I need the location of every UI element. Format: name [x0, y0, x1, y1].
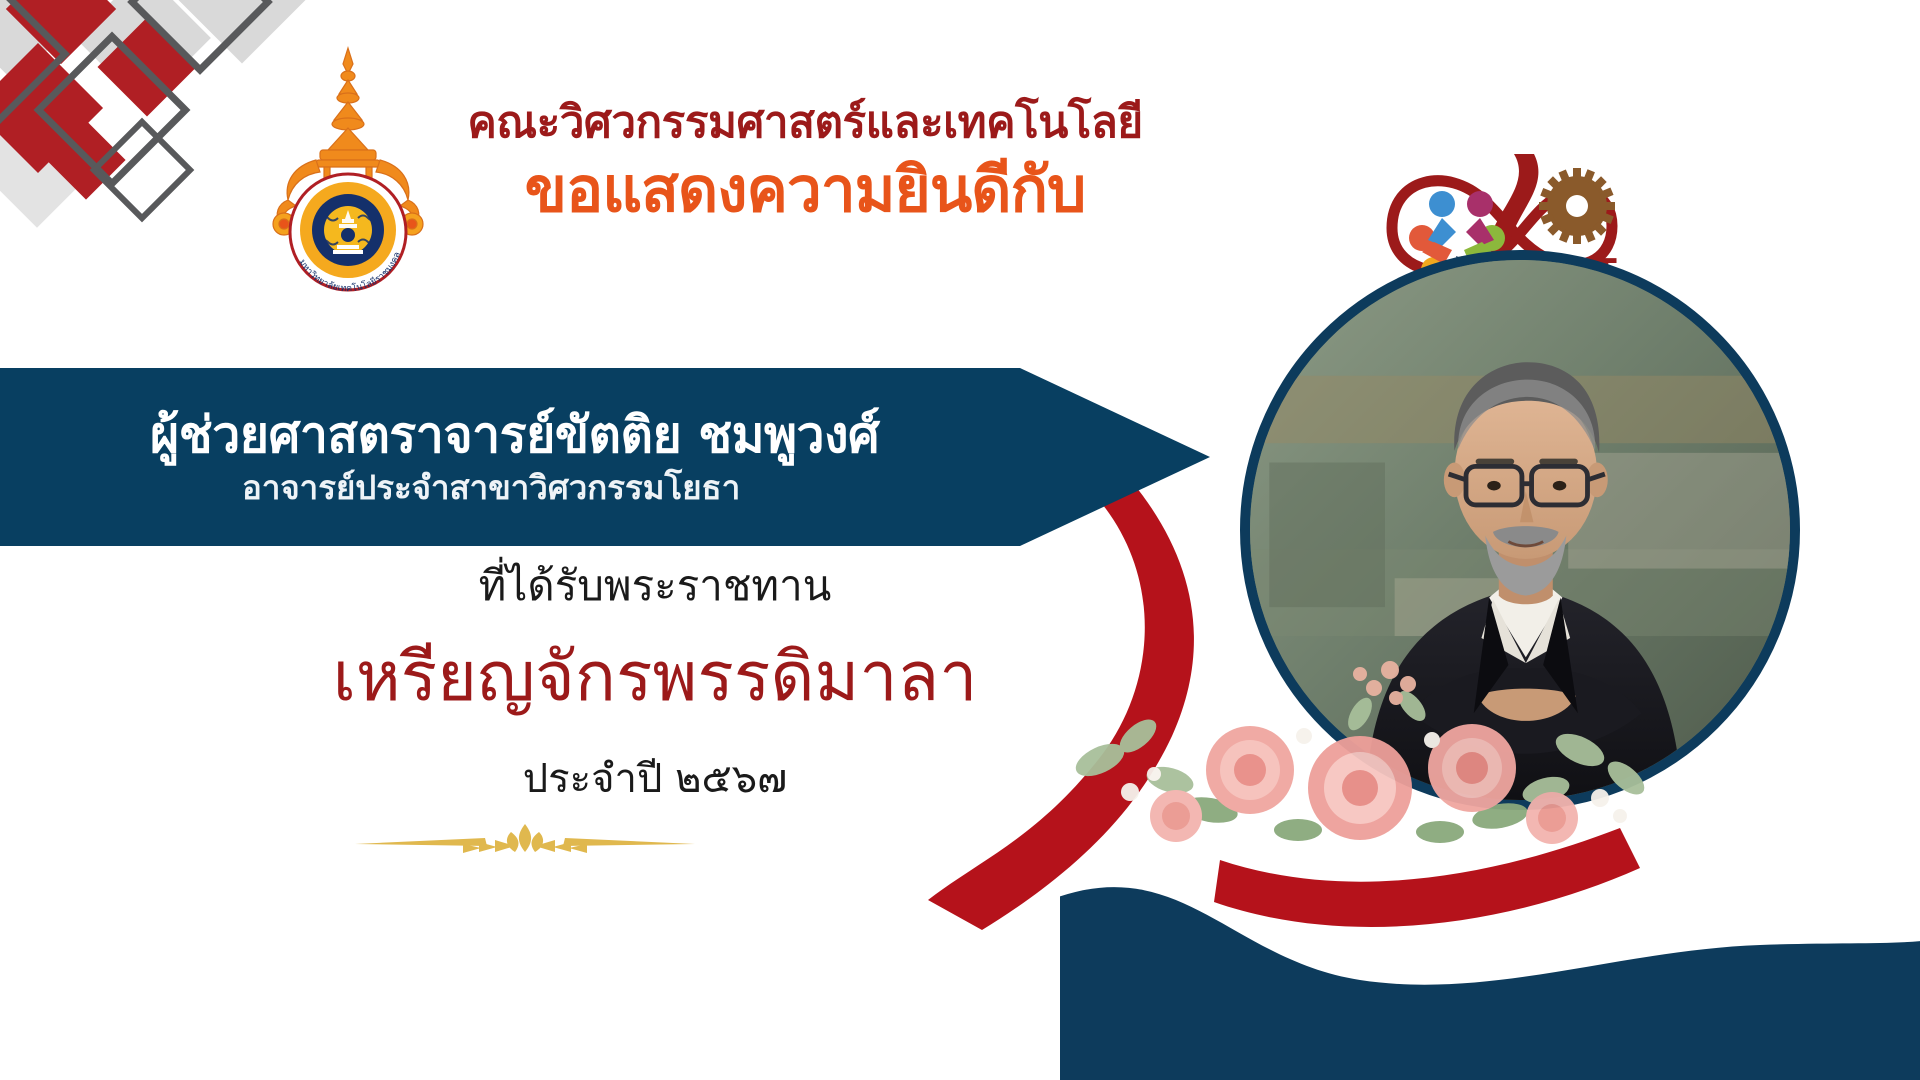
- honoree-name: ผู้ช่วยศาสตราจารย์ขัตติย ชมพูวงศ์: [150, 408, 879, 463]
- award-name-text: เหรียญจักรพรรดิมาลา: [110, 635, 1200, 720]
- honoree-role: อาจารย์ประจำสาขาวิศวกรรมโยธา: [150, 469, 740, 507]
- faculty-title: คณะวิศวกรรมศาสตร์และเทคโนโลยี: [455, 98, 1155, 149]
- banner-canvas: มหาวิทยาลัยเทคโนโลยีราชมงคลล้านนา คณะวิศ…: [0, 0, 1920, 1080]
- honoree-banner: ผู้ช่วยศาสตราจารย์ขัตติย ชมพูวงศ์ อาจารย…: [0, 368, 1210, 546]
- congratulations-title: ขอแสดงความยินดีกับ: [455, 153, 1155, 226]
- crest-svg: มหาวิทยาลัยเทคโนโลยีราชมงคลล้านนา: [258, 42, 438, 292]
- gold-flourish-divider-icon: [355, 818, 695, 864]
- rmutl-crest-icon: มหาวิทยาลัยเทคโนโลยีราชมงคลล้านนา: [258, 42, 438, 292]
- award-intro-text: ที่ได้รับพระราชทาน: [110, 560, 1200, 613]
- header-block: คณะวิศวกรรมศาสตร์และเทคโนโลยี ขอแสดงความ…: [455, 98, 1155, 226]
- right-decoration-area: [1060, 0, 1920, 1080]
- award-text-block: ที่ได้รับพระราชทาน เหรียญจักรพรรดิมาลา ป…: [110, 560, 1200, 804]
- award-year-text: ประจำปี ๒๕๖๗: [110, 754, 1200, 804]
